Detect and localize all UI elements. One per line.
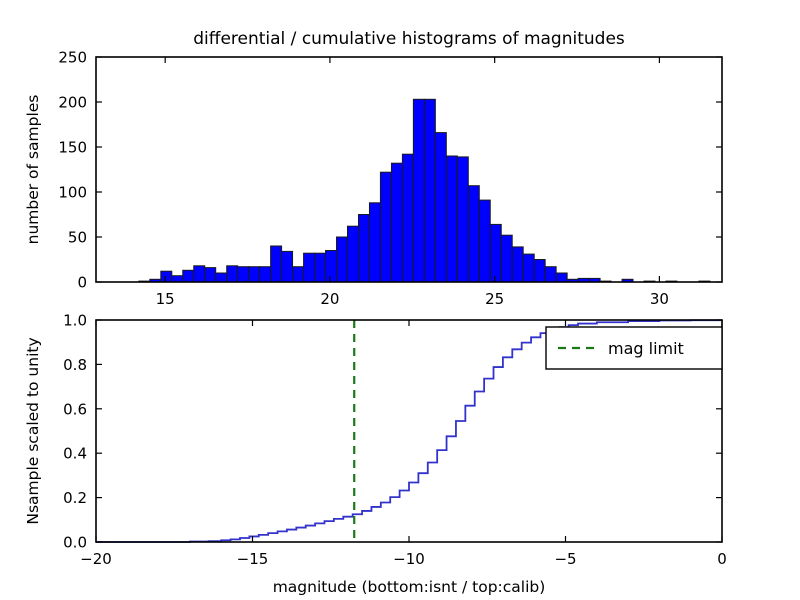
histogram-bar <box>391 163 402 282</box>
histogram-bar <box>424 99 435 282</box>
histogram-bar <box>337 237 348 282</box>
histogram-bar <box>161 271 172 282</box>
histogram-bar <box>534 260 545 283</box>
xtick-label-top: 15 <box>156 290 175 308</box>
xtick-label-top: 25 <box>485 290 504 308</box>
ytick-label-top: 50 <box>68 229 87 247</box>
histogram-bar <box>172 276 183 282</box>
legend[interactable]: mag limit <box>546 327 722 369</box>
histogram-bar <box>457 157 468 282</box>
histogram-bar <box>435 133 446 282</box>
histogram-bar <box>358 215 369 283</box>
xtick-label-bottom: 0 <box>717 550 727 568</box>
histogram-bar <box>402 154 413 282</box>
ytick-label-top: 200 <box>58 94 87 112</box>
ytick-label-top: 150 <box>58 139 87 157</box>
histogram-bar <box>479 200 490 282</box>
figure-title: differential / cumulative histograms of … <box>193 29 625 49</box>
histogram-bar <box>490 224 501 282</box>
top-panel-ylabel: number of samples <box>24 95 42 245</box>
ytick-label-bottom: 0.6 <box>63 400 87 418</box>
histogram-bar <box>446 156 457 282</box>
xtick-label-bottom: −10 <box>393 550 425 568</box>
xtick-label-bottom: −15 <box>237 550 269 568</box>
histogram-bar <box>326 251 337 283</box>
legend-mag-limit-label: mag limit <box>608 339 684 358</box>
bottom-panel-xlabel: magnitude (bottom:isnt / top:calib) <box>273 578 546 596</box>
histogram-bar <box>293 267 304 282</box>
histogram-bar <box>194 266 205 282</box>
ytick-label-bottom: 0.2 <box>63 489 87 507</box>
histogram-bar <box>556 273 567 282</box>
ytick-label-top: 100 <box>58 184 87 202</box>
histogram-bar <box>501 235 512 282</box>
histogram-bar <box>271 246 282 282</box>
histogram-bar <box>227 266 238 282</box>
ytick-label-bottom: 0.4 <box>63 445 87 463</box>
top-panel-group: 15202530050100150200250differential / cu… <box>24 29 722 308</box>
histogram-bar <box>205 268 216 282</box>
figure-canvas: 15202530050100150200250differential / cu… <box>0 0 800 600</box>
histogram-bar <box>380 172 391 282</box>
xtick-label-top: 30 <box>650 290 669 308</box>
ytick-label-top: 250 <box>58 49 87 67</box>
histogram-bar <box>512 247 523 282</box>
histogram-bar <box>238 267 249 282</box>
histogram-bar <box>545 267 556 282</box>
bottom-panel-group: −20−15−10−500.00.20.40.60.81.0Nsample sc… <box>24 312 727 597</box>
histogram-bar <box>369 203 380 282</box>
xtick-label-top: 20 <box>320 290 339 308</box>
histogram-bar <box>413 99 424 282</box>
ytick-label-bottom: 0.0 <box>63 534 87 552</box>
xtick-label-bottom: −5 <box>554 550 576 568</box>
ytick-label-bottom: 0.8 <box>63 356 87 374</box>
histogram-bar <box>282 251 293 282</box>
ytick-label-top: 0 <box>77 274 87 292</box>
histogram-bar <box>260 267 271 282</box>
histogram-bar <box>249 267 260 282</box>
ytick-label-bottom: 1.0 <box>63 312 87 330</box>
matplotlib-figure: 15202530050100150200250differential / cu… <box>0 0 800 600</box>
histogram-bars <box>139 99 710 282</box>
histogram-bar <box>347 226 358 282</box>
bottom-panel-ylabel: Nsample scaled to unity <box>24 337 42 524</box>
histogram-bar <box>183 270 194 282</box>
xtick-label-bottom: −20 <box>80 550 112 568</box>
histogram-bar <box>304 253 315 282</box>
histogram-bar <box>216 273 227 282</box>
histogram-bar <box>523 254 534 282</box>
histogram-bar <box>315 253 326 282</box>
histogram-bar <box>468 186 479 282</box>
